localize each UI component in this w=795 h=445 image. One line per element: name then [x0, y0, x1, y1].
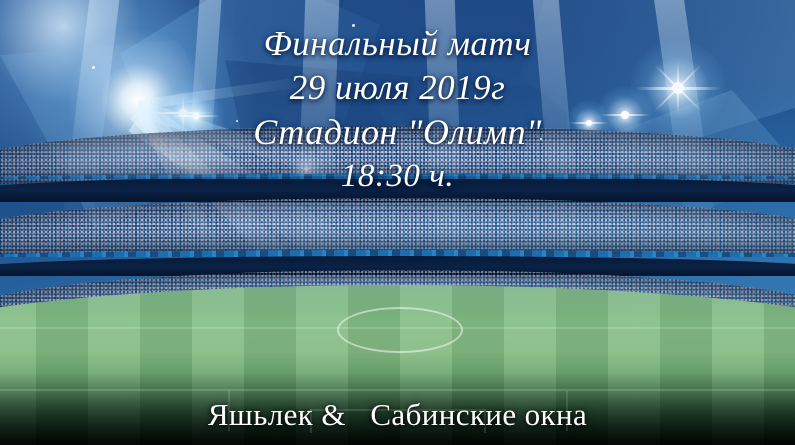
pitch-center-circle	[337, 307, 463, 353]
teams-matchup: Яшьлек & Сабинские окна	[0, 397, 795, 433]
headline-time: 18:30 ч.	[0, 154, 795, 198]
event-headline: Финальный матч 29 июля 2019г Стадион "Ол…	[0, 22, 795, 198]
pitch-halfway-line	[0, 327, 795, 329]
headline-date: 29 июля 2019г	[0, 66, 795, 110]
headline-title: Финальный матч	[0, 22, 795, 66]
pitch-near-touchline	[0, 389, 795, 391]
poster-image: Финальный матч 29 июля 2019г Стадион "Ол…	[0, 0, 795, 445]
headline-venue: Стадион "Олимп"	[0, 110, 795, 154]
stand-tier-middle	[0, 198, 795, 254]
